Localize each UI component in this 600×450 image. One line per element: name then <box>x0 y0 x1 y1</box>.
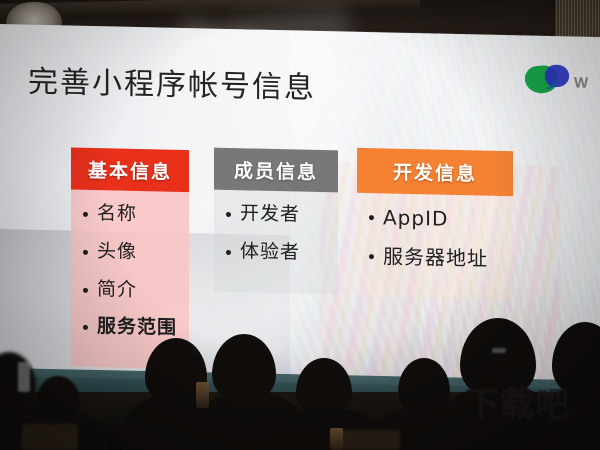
drink-cup <box>196 382 209 408</box>
column-panel: 成员信息 开发者 体验者 <box>214 148 338 294</box>
bullet-icon <box>226 212 231 217</box>
list-item-label: 体验者 <box>240 240 300 265</box>
bullet-icon <box>369 215 374 220</box>
watermark-url: www.xiazaiba.com <box>465 424 597 436</box>
list-item-label: 头像 <box>97 240 137 265</box>
list-item: AppID <box>361 205 513 233</box>
page-title: 完善小程序帐号信息 <box>28 57 316 107</box>
list-item: 体验者 <box>218 240 338 266</box>
list-item: 服务器地址 <box>361 244 513 272</box>
eyeglasses-glint <box>492 348 506 353</box>
bullet-icon <box>369 254 374 259</box>
drink-cup <box>330 428 343 450</box>
column-header-dev-info: 开发信息 <box>357 148 513 196</box>
audience-hand <box>152 372 174 402</box>
watermark: 下载吧 www.xiazaiba.com <box>465 388 597 444</box>
bullet-icon <box>226 250 231 255</box>
wechat-logo <box>520 59 572 100</box>
list-item: 名称 <box>75 202 189 228</box>
list-item: 简介 <box>75 277 189 303</box>
list-item-label: 名称 <box>97 202 137 227</box>
bullet-icon <box>83 250 88 255</box>
chair-back <box>22 424 78 450</box>
column-items: 名称 头像 简介 服务范围 <box>71 190 189 342</box>
list-item-label: 简介 <box>97 278 137 303</box>
list-item: 开发者 <box>218 202 338 228</box>
brand-logo-text: W <box>574 75 589 92</box>
column-basic-info: 基本信息 名称 头像 简介 <box>71 148 189 370</box>
column-panel: 基本信息 名称 头像 简介 <box>71 148 189 370</box>
column-panel: 开发信息 AppID 服务器地址 <box>357 148 513 300</box>
column-items: AppID 服务器地址 <box>357 193 513 272</box>
column-items: 开发者 体验者 <box>214 190 338 266</box>
column-dev-info: 开发信息 AppID 服务器地址 <box>357 148 513 300</box>
list-item: 头像 <box>75 239 189 265</box>
list-item: 服务范围 <box>75 315 189 341</box>
list-item-label: 服务范围 <box>97 315 177 340</box>
column-member-info: 成员信息 开发者 体验者 <box>214 148 338 294</box>
list-item-label: 开发者 <box>240 202 300 227</box>
list-item-label: 服务器地址 <box>383 244 488 271</box>
column-header-member-info: 成员信息 <box>214 148 338 193</box>
water-bottle <box>18 362 30 392</box>
watermark-label: 下载吧 <box>465 388 597 422</box>
ceiling-beam <box>0 0 420 20</box>
bullet-icon <box>83 212 88 217</box>
brand-logo: W <box>520 57 600 105</box>
list-item-label: AppID <box>383 205 448 231</box>
bullet-icon <box>83 287 88 292</box>
presentation-photo: 完善小程序帐号信息 基本信息 名称 头像 <box>0 0 600 450</box>
bullet-icon <box>83 325 88 330</box>
column-header-basic-info: 基本信息 <box>71 148 189 193</box>
